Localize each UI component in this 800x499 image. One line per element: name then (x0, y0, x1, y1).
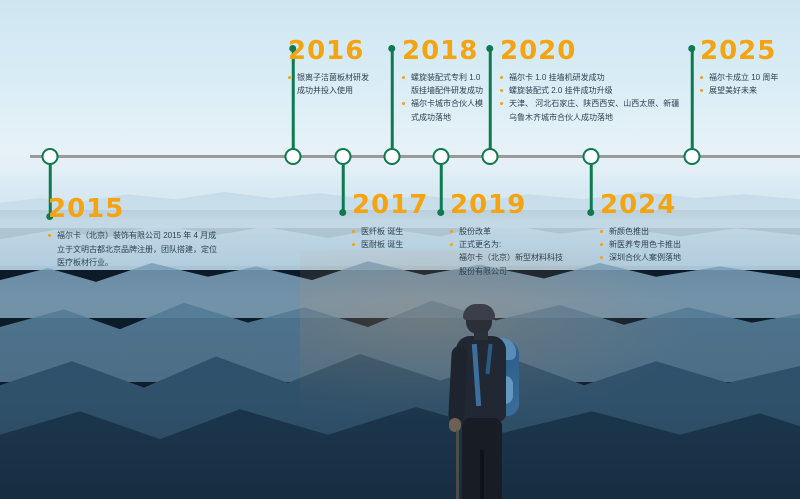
timeline-stem-cap-2017 (340, 209, 347, 216)
event-bullet-list-2024: 新颜色推出新医养专用色卡推出深圳合伙人案例落地 (600, 225, 681, 265)
event-bullet-2018-1: 螺旋装配式专利 1.0 (402, 71, 483, 84)
trekking-pole (456, 430, 459, 499)
timeline-stem-cap-2019 (438, 209, 445, 216)
timeline-node-2019[interactable] (433, 148, 450, 165)
timeline-stem-cap-2024 (588, 209, 595, 216)
event-bullet-2025-2: 展望美好未来 (700, 84, 778, 97)
event-bullet-2017-2: 医耐板 诞生 (352, 238, 428, 251)
event-bullet-list-2017: 医纤板 诞生医耐板 诞生 (352, 225, 428, 251)
event-bullet-list-2018: 螺旋装配式专利 1.0版挂墙配件研发成功福尔卡城市合伙人模式成功落地 (402, 71, 483, 124)
timeline-stem-2019 (440, 165, 443, 213)
timeline-event-2019: 2019股份改革正式更名为:福尔卡（北京）新型材料科技股份有限公司 (450, 192, 563, 278)
event-bullet-2019-4: 股份有限公司 (450, 265, 563, 278)
timeline-stem-2025 (691, 48, 694, 156)
timeline-event-2017: 2017医纤板 诞生医耐板 诞生 (352, 192, 428, 251)
hiker-leg-gap (480, 450, 484, 499)
event-bullet-2016-1: 银离子洁菌板材研发 (288, 71, 369, 84)
event-year-2016: 2016 (288, 38, 369, 64)
timeline-stem-cap-2020 (487, 45, 494, 52)
foreground-shadow (0, 300, 800, 499)
event-year-2015: 2015 (48, 196, 222, 222)
event-year-2024: 2024 (600, 192, 681, 218)
event-bullet-list-2020: 福尔卡 1.0 挂墙机研发成功螺旋装配式 2.0 挂件成功升级天津、 河北石家庄… (500, 71, 679, 124)
event-bullet-2019-2: 正式更名为: (450, 238, 563, 251)
hiker-hat (463, 304, 495, 320)
event-bullet-2018-2: 版挂墙配件研发成功 (402, 84, 483, 97)
timeline-event-2025: 2025福尔卡成立 10 周年展望美好未来 (700, 38, 778, 97)
hiker-figure (430, 300, 550, 499)
event-bullet-list-2025: 福尔卡成立 10 周年展望美好未来 (700, 71, 778, 97)
event-bullet-2018-3: 福尔卡城市合伙人模 (402, 97, 483, 110)
event-bullet-2016-2: 成功并投入使用 (288, 84, 369, 97)
event-description-2015: 福尔卡（北京）装饰有限公司 2015 年 4 月成立于文明古都北京品牌注册，团队… (48, 229, 222, 270)
timeline-stem-2020 (489, 48, 492, 156)
event-bullet-2024-1: 新颜色推出 (600, 225, 681, 238)
event-bullet-2020-3: 天津、 河北石家庄、陕西西安、山西太原、新疆 (500, 97, 679, 110)
timeline-event-2024: 2024新颜色推出新医养专用色卡推出深圳合伙人案例落地 (600, 192, 681, 265)
event-bullet-2020-2: 螺旋装配式 2.0 挂件成功升级 (500, 84, 679, 97)
event-year-2020: 2020 (500, 38, 679, 64)
event-year-2019: 2019 (450, 192, 563, 218)
timeline-node-2020[interactable] (482, 148, 499, 165)
timeline-stem-2024 (590, 165, 593, 213)
event-bullet-2024-3: 深圳合伙人案例落地 (600, 251, 681, 264)
timeline-stem-cap-2025 (689, 45, 696, 52)
event-bullet-2025-1: 福尔卡成立 10 周年 (700, 71, 778, 84)
event-bullet-list-2016: 银离子洁菌板材研发成功并投入使用 (288, 71, 369, 97)
event-bullet-2019-3: 福尔卡（北京）新型材料科技 (450, 251, 563, 264)
timeline-stem-cap-2018 (389, 45, 396, 52)
timeline-event-2015: 2015福尔卡（北京）装饰有限公司 2015 年 4 月成立于文明古都北京品牌注… (48, 196, 222, 270)
event-bullet-2020-1: 福尔卡 1.0 挂墙机研发成功 (500, 71, 679, 84)
timeline-node-2015[interactable] (42, 148, 59, 165)
timeline-node-2025[interactable] (684, 148, 701, 165)
event-bullet-2019-1: 股份改革 (450, 225, 563, 238)
timeline-stem-2017 (342, 165, 345, 213)
event-bullet-2024-2: 新医养专用色卡推出 (600, 238, 681, 251)
event-year-2018: 2018 (402, 38, 483, 64)
timeline-event-2018: 2018螺旋装配式专利 1.0版挂墙配件研发成功福尔卡城市合伙人模式成功落地 (402, 38, 483, 124)
event-bullet-2020-4: 乌鲁木齐城市合伙人成功落地 (500, 111, 679, 124)
timeline-node-2024[interactable] (583, 148, 600, 165)
event-bullet-2018-4: 式成功落地 (402, 111, 483, 124)
timeline-node-2017[interactable] (335, 148, 352, 165)
event-year-2025: 2025 (700, 38, 778, 64)
timeline-event-2016: 2016银离子洁菌板材研发成功并投入使用 (288, 38, 369, 97)
timeline-infographic: 2015福尔卡（北京）装饰有限公司 2015 年 4 月成立于文明古都北京品牌注… (0, 0, 800, 499)
timeline-event-2020: 2020福尔卡 1.0 挂墙机研发成功螺旋装配式 2.0 挂件成功升级天津、 河… (500, 38, 679, 124)
timeline-stem-2018 (391, 48, 394, 156)
event-bullet-2017-1: 医纤板 诞生 (352, 225, 428, 238)
event-year-2017: 2017 (352, 192, 428, 218)
timeline-node-2018[interactable] (384, 148, 401, 165)
event-bullet-list-2019: 股份改革正式更名为:福尔卡（北京）新型材料科技股份有限公司 (450, 225, 563, 278)
hiker-hand (449, 418, 461, 432)
timeline-node-2016[interactable] (285, 148, 302, 165)
